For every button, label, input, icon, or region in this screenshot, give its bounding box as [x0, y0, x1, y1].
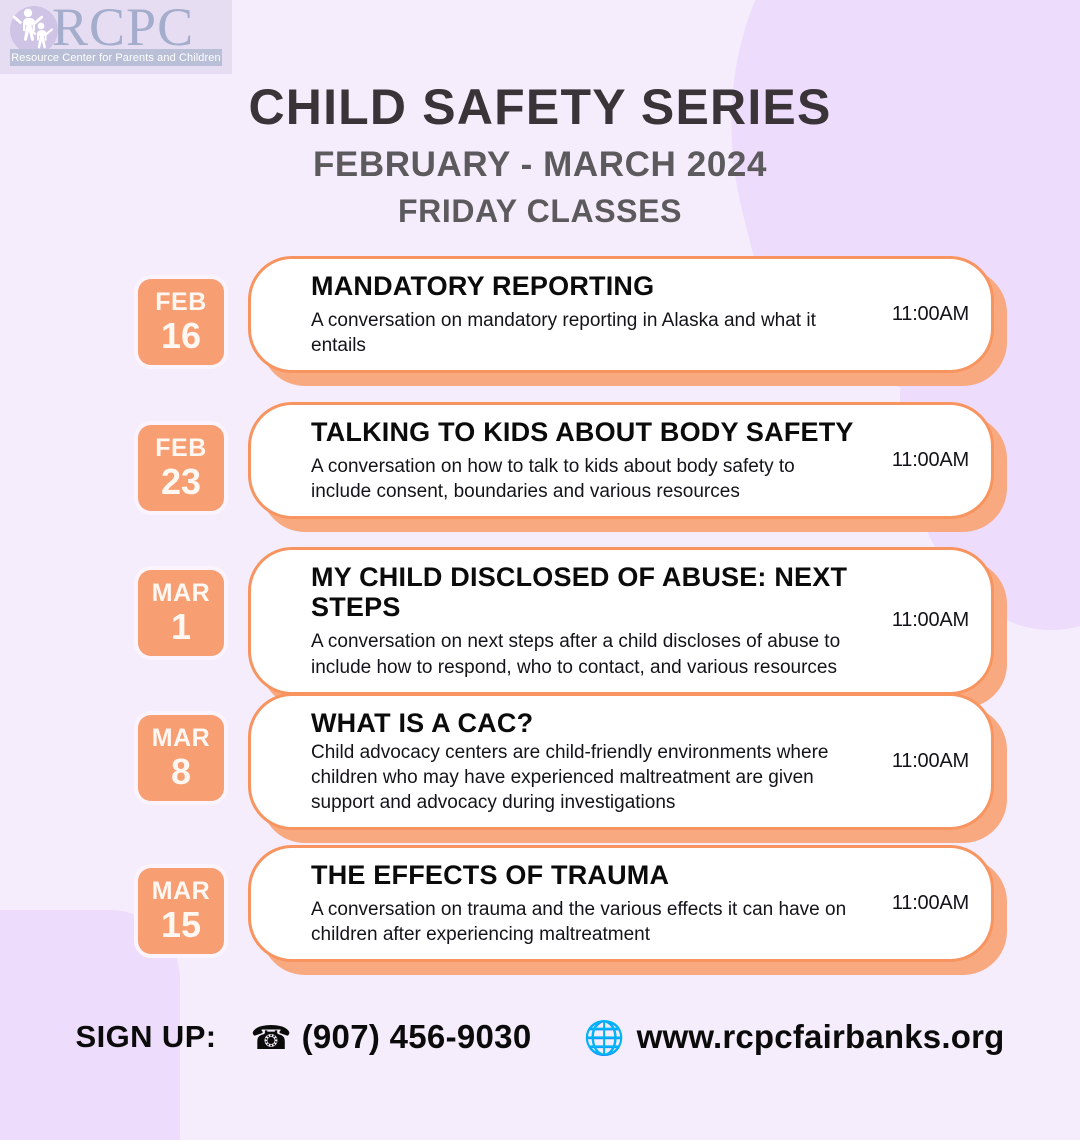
telephone-icon: ☎: [251, 1021, 292, 1054]
session-card-body: WHAT IS A CAC?Child advocacy centers are…: [311, 708, 857, 815]
badge-day: 1: [171, 609, 191, 645]
footer-contact: SIGN UP: ☎ (907) 456-9030 🌐 www.rcpcfair…: [0, 1018, 1080, 1056]
badge-day: 16: [161, 318, 201, 354]
session-title: MANDATORY REPORTING: [311, 271, 857, 301]
session-time: 11:00AM: [857, 449, 969, 472]
date-badge: MAR8: [138, 715, 224, 801]
rcpc-logo: RCPC Resource Center for Parents and Chi…: [0, 0, 232, 74]
date-badge: FEB16: [138, 279, 224, 365]
session-description: A conversation on how to talk to kids ab…: [311, 454, 857, 504]
session-card-wrapper: MANDATORY REPORTINGA conversation on man…: [248, 256, 994, 373]
page-header: CHILD SAFETY SERIES FEBRUARY - MARCH 202…: [0, 82, 1080, 227]
date-badge: MAR15: [138, 868, 224, 954]
session-card-wrapper: WHAT IS A CAC?Child advocacy centers are…: [248, 693, 994, 830]
badge-month: FEB: [155, 436, 207, 461]
session-title: THE EFFECTS OF TRAUMA: [311, 860, 857, 890]
website-link[interactable]: www.rcpcfairbanks.org: [637, 1018, 1005, 1056]
date-badge: MAR1: [138, 570, 224, 656]
badge-month: FEB: [155, 290, 207, 315]
schedule-row: FEB23TALKING TO KIDS ABOUT BODY SAFETYA …: [0, 398, 1080, 547]
logo-tagline: Resource Center for Parents and Children: [11, 52, 220, 64]
session-card[interactable]: MY CHILD DISCLOSED OF ABUSE: NEXT STEPSA…: [248, 547, 994, 695]
session-title: MY CHILD DISCLOSED OF ABUSE: NEXT STEPS: [311, 562, 857, 622]
page-subtitle-classday: FRIDAY CLASSES: [0, 195, 1080, 227]
session-title: TALKING TO KIDS ABOUT BODY SAFETY: [311, 417, 857, 447]
session-description: Child advocacy centers are child-friendl…: [311, 740, 857, 815]
session-card-wrapper: MY CHILD DISCLOSED OF ABUSE: NEXT STEPSA…: [248, 547, 994, 695]
page-subtitle-daterange: FEBRUARY - MARCH 2024: [0, 147, 1080, 182]
date-badge: FEB23: [138, 425, 224, 511]
phone-number[interactable]: (907) 456-9030: [302, 1018, 532, 1056]
session-card-body: MY CHILD DISCLOSED OF ABUSE: NEXT STEPSA…: [311, 562, 857, 680]
session-card[interactable]: THE EFFECTS OF TRAUMAA conversation on t…: [248, 845, 994, 962]
schedule-row: MAR15THE EFFECTS OF TRAUMAA conversation…: [0, 841, 1080, 990]
session-description: A conversation on mandatory reporting in…: [311, 308, 857, 358]
session-card[interactable]: TALKING TO KIDS ABOUT BODY SAFETYA conve…: [248, 402, 994, 519]
session-time: 11:00AM: [857, 750, 969, 773]
sign-up-label: SIGN UP:: [76, 1019, 217, 1055]
session-card-wrapper: THE EFFECTS OF TRAUMAA conversation on t…: [248, 845, 994, 962]
schedule-row: FEB16MANDATORY REPORTINGA conversation o…: [0, 252, 1080, 401]
session-time: 11:00AM: [857, 892, 969, 915]
globe-icon: 🌐: [583, 1021, 624, 1054]
page-title: CHILD SAFETY SERIES: [0, 82, 1080, 132]
session-card[interactable]: WHAT IS A CAC?Child advocacy centers are…: [248, 693, 994, 830]
session-card-body: THE EFFECTS OF TRAUMAA conversation on t…: [311, 860, 857, 947]
logo-tagline-bar: Resource Center for Parents and Children: [10, 49, 222, 66]
schedule-row: MAR1MY CHILD DISCLOSED OF ABUSE: NEXT ST…: [0, 543, 1080, 692]
badge-month: MAR: [152, 581, 210, 606]
badge-month: MAR: [152, 879, 210, 904]
session-card-body: TALKING TO KIDS ABOUT BODY SAFETYA conve…: [311, 417, 857, 504]
badge-day: 23: [161, 464, 201, 500]
badge-month: MAR: [152, 726, 210, 751]
session-description: A conversation on next steps after a chi…: [311, 629, 857, 679]
badge-day: 15: [161, 907, 201, 943]
session-time: 11:00AM: [857, 303, 969, 326]
session-description: A conversation on trauma and the various…: [311, 897, 857, 947]
session-time: 11:00AM: [857, 609, 969, 632]
badge-day: 8: [171, 754, 191, 790]
session-card-wrapper: TALKING TO KIDS ABOUT BODY SAFETYA conve…: [248, 402, 994, 519]
session-card-body: MANDATORY REPORTINGA conversation on man…: [311, 271, 857, 358]
session-card[interactable]: MANDATORY REPORTINGA conversation on man…: [248, 256, 994, 373]
schedule-row: MAR8WHAT IS A CAC?Child advocacy centers…: [0, 693, 1080, 842]
session-title: WHAT IS A CAC?: [311, 708, 857, 738]
